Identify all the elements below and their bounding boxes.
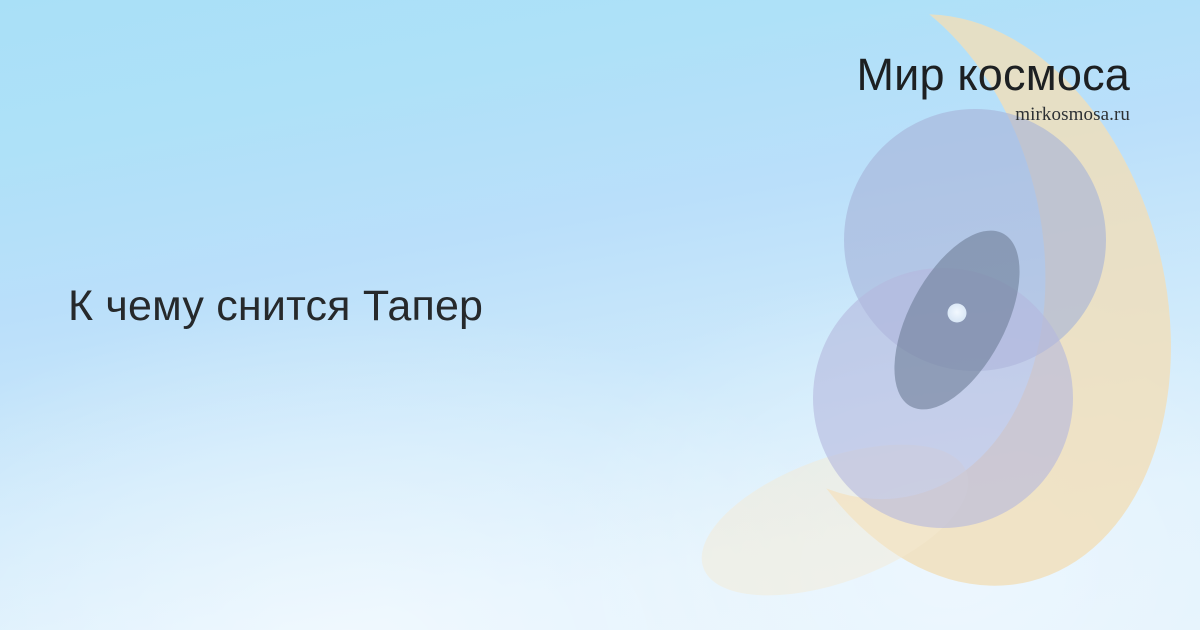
center-white-dot xyxy=(948,304,967,323)
page-title: К чему снится Тапер xyxy=(68,281,483,332)
site-logo-domain: mirkosmosa.ru xyxy=(856,105,1130,124)
site-logo-title: Мир космоса xyxy=(856,52,1130,97)
share-card: Мир космоса mirkosmosa.ru К чему снится … xyxy=(0,0,1200,630)
site-logo[interactable]: Мир космоса mirkosmosa.ru xyxy=(856,52,1130,124)
